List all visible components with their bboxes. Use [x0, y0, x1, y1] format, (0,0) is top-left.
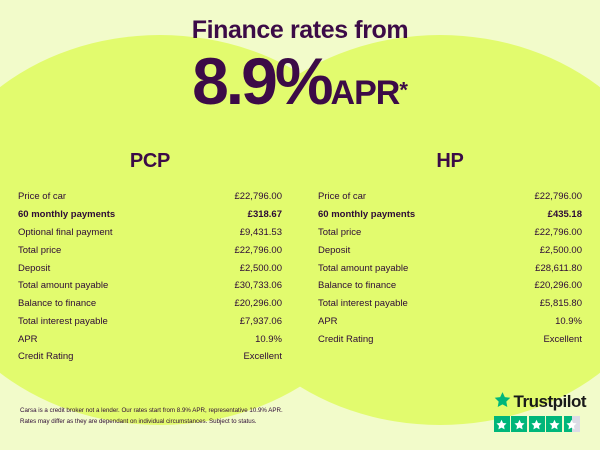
table-row: Price of car£22,796.00 — [318, 188, 582, 206]
page-title: Finance rates from — [0, 16, 600, 45]
table-row: Total amount payable£30,733.06 — [18, 277, 282, 295]
row-value: £2,500.00 — [240, 263, 282, 274]
rate-number: 8.9% — [192, 44, 330, 118]
trustpilot-star-rating — [494, 416, 586, 432]
table-row: Total amount payable£28,611.80 — [318, 259, 582, 277]
trustpilot-star-icon — [494, 391, 511, 413]
row-value: Excellent — [243, 351, 282, 362]
row-value: £7,937.06 — [240, 316, 282, 327]
finance-rates-banner: Finance rates from 8.9%APR* PCPPrice of … — [0, 0, 600, 450]
row-value: 10.9% — [555, 316, 582, 327]
row-value: 10.9% — [255, 334, 282, 345]
row-value: £318.67 — [248, 209, 282, 220]
table-row: Balance to finance£20,296.00 — [18, 295, 282, 313]
row-label: Credit Rating — [318, 334, 373, 345]
disclaimer: Carsa is a credit broker not a lender. O… — [20, 406, 350, 428]
table-row: Credit RatingExcellent — [318, 330, 582, 348]
row-value: £22,796.00 — [234, 245, 282, 256]
table-row: Total price£22,796.00 — [18, 241, 282, 259]
row-value: £22,796.00 — [534, 227, 582, 238]
table-row: Optional final payment£9,431.53 — [18, 224, 282, 242]
row-value: £2,500.00 — [540, 245, 582, 256]
row-value: £20,296.00 — [234, 298, 282, 309]
finance-plans-container: PCPPrice of car£22,796.0060 monthly paym… — [0, 150, 600, 366]
table-row: Total price£22,796.00 — [318, 224, 582, 242]
table-row: Balance to finance£20,296.00 — [318, 277, 582, 295]
table-row: Total interest payable£5,815.80 — [318, 295, 582, 313]
row-label: Price of car — [318, 191, 366, 202]
row-label: Balance to finance — [318, 280, 396, 291]
row-value: £9,431.53 — [240, 227, 282, 238]
trustpilot-rating[interactable]: Trustpilot — [494, 391, 586, 432]
asterisk-marker: * — [399, 78, 408, 103]
trustpilot-full-star-icon — [546, 416, 562, 432]
row-label: Total amount payable — [318, 263, 408, 274]
row-value: £435.18 — [548, 209, 582, 220]
row-label: Deposit — [318, 245, 350, 256]
row-value: £30,733.06 — [234, 280, 282, 291]
table-row: Deposit£2,500.00 — [18, 259, 282, 277]
row-label: Total interest payable — [18, 316, 108, 327]
row-value: £22,796.00 — [534, 191, 582, 202]
trustpilot-full-star-icon — [494, 416, 510, 432]
table-row: APR10.9% — [18, 330, 282, 348]
row-value: Excellent — [543, 334, 582, 345]
trustpilot-half-star-icon — [564, 416, 580, 432]
row-label: APR — [318, 316, 338, 327]
row-value: £5,815.80 — [540, 298, 582, 309]
trustpilot-wordmark: Trustpilot — [514, 392, 586, 412]
table-row: Total interest payable£7,937.06 — [18, 312, 282, 330]
plan-hp: HPPrice of car£22,796.0060 monthly payme… — [300, 150, 600, 366]
table-row: 60 monthly payments£318.67 — [18, 206, 282, 224]
row-label: Total price — [318, 227, 361, 238]
headline-rate: 8.9%APR* — [0, 48, 600, 114]
disclaimer-line-2: Rates may differ as they are dependant o… — [20, 417, 350, 428]
row-label: Total interest payable — [318, 298, 408, 309]
row-value: £22,796.00 — [234, 191, 282, 202]
table-row: Deposit£2,500.00 — [318, 241, 582, 259]
row-label: 60 monthly payments — [18, 209, 115, 220]
row-value: £20,296.00 — [534, 280, 582, 291]
table-row: APR10.9% — [318, 312, 582, 330]
row-value: £28,611.80 — [535, 263, 582, 274]
trustpilot-full-star-icon — [511, 416, 527, 432]
trustpilot-logo: Trustpilot — [494, 391, 586, 413]
row-label: APR — [18, 334, 38, 345]
row-label: Balance to finance — [18, 298, 96, 309]
row-label: 60 monthly payments — [318, 209, 415, 220]
disclaimer-line-1: Carsa is a credit broker not a lender. O… — [20, 406, 350, 417]
plan-pcp: PCPPrice of car£22,796.0060 monthly paym… — [0, 150, 300, 366]
plan-title: PCP — [18, 150, 282, 173]
row-label: Total amount payable — [18, 280, 108, 291]
row-label: Credit Rating — [18, 351, 73, 362]
row-label: Deposit — [18, 263, 50, 274]
row-label: Optional final payment — [18, 227, 113, 238]
row-label: Total price — [18, 245, 61, 256]
table-row: Price of car£22,796.00 — [18, 188, 282, 206]
row-label: Price of car — [18, 191, 66, 202]
table-row: 60 monthly payments£435.18 — [318, 206, 582, 224]
table-row: Credit RatingExcellent — [18, 348, 282, 366]
plan-title: HP — [318, 150, 582, 173]
trustpilot-full-star-icon — [529, 416, 545, 432]
rate-suffix: APR — [331, 74, 400, 112]
